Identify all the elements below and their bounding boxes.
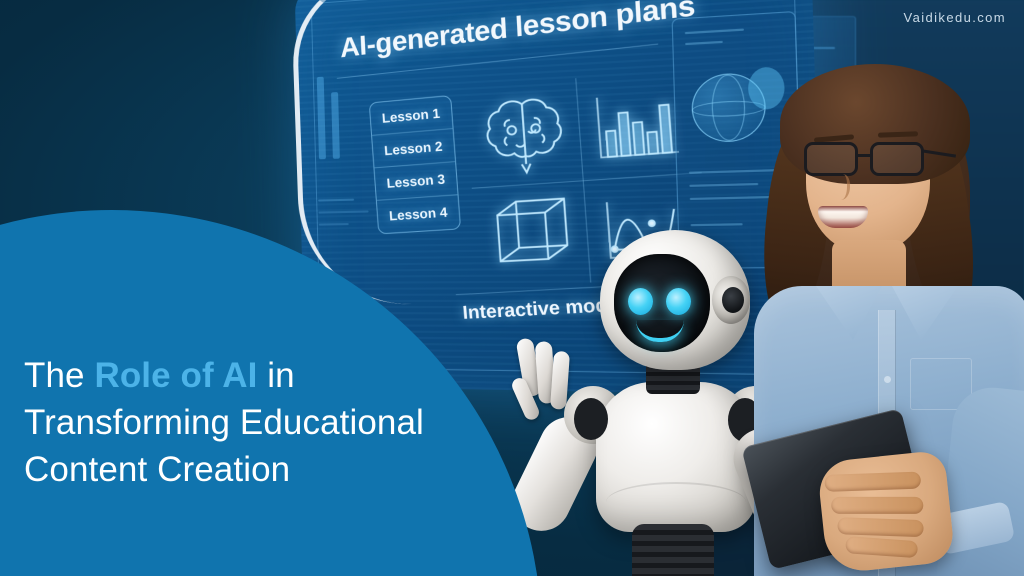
lens-right [870, 142, 924, 176]
brain-icon[interactable] [476, 85, 574, 186]
robot-ear-right [712, 276, 750, 324]
robot-legs [632, 524, 714, 576]
robot-eye-left [628, 288, 653, 315]
eyeglasses [804, 142, 938, 176]
headline-part-1: The [24, 356, 94, 395]
robot-head [600, 230, 750, 370]
robot-face-plate [614, 254, 710, 352]
page-title: The Role of AI in Transforming Education… [24, 353, 454, 493]
hand-holding-tablet [816, 450, 955, 575]
nose [832, 174, 850, 200]
robot-chest-seam [606, 482, 746, 522]
poster-canvas: AI-generated lesson plans Lesson 1 Lesso… [0, 0, 1024, 576]
lens-left [804, 142, 858, 176]
site-watermark: Vaidikedu.com [903, 10, 1006, 25]
teacher-woman [760, 58, 1024, 576]
robot-smile [636, 320, 684, 342]
robot-eye-right [666, 288, 691, 315]
headline-accent: Role of AI [94, 356, 257, 395]
smile-mouth [818, 206, 868, 228]
